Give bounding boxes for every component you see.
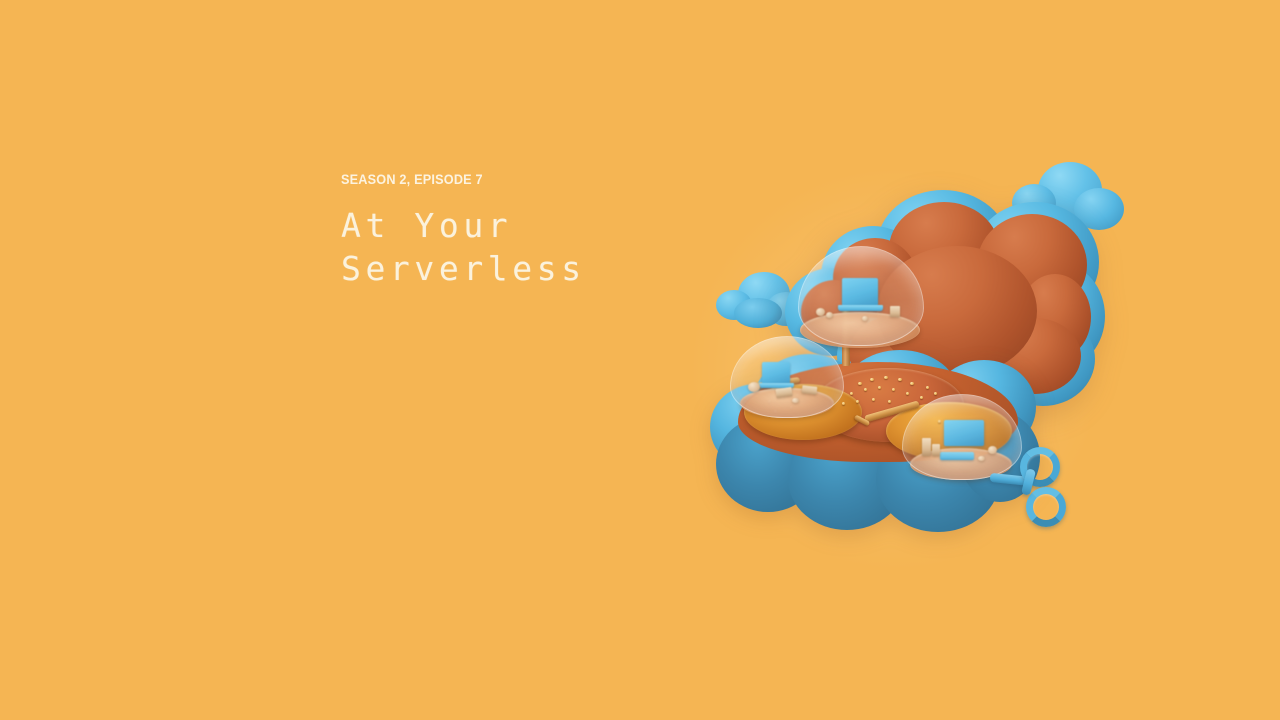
wind-up-key-ring-lower (1026, 487, 1066, 527)
serverless-cloud-illustration (690, 150, 1120, 570)
glass-dome-left (730, 336, 842, 428)
episode-eyebrow: SEASON 2, EPISODE 7 (341, 172, 736, 188)
slide-canvas: SEASON 2, EPISODE 7 At Your Serverless (0, 0, 1280, 720)
wind-up-key[interactable] (990, 435, 1080, 535)
